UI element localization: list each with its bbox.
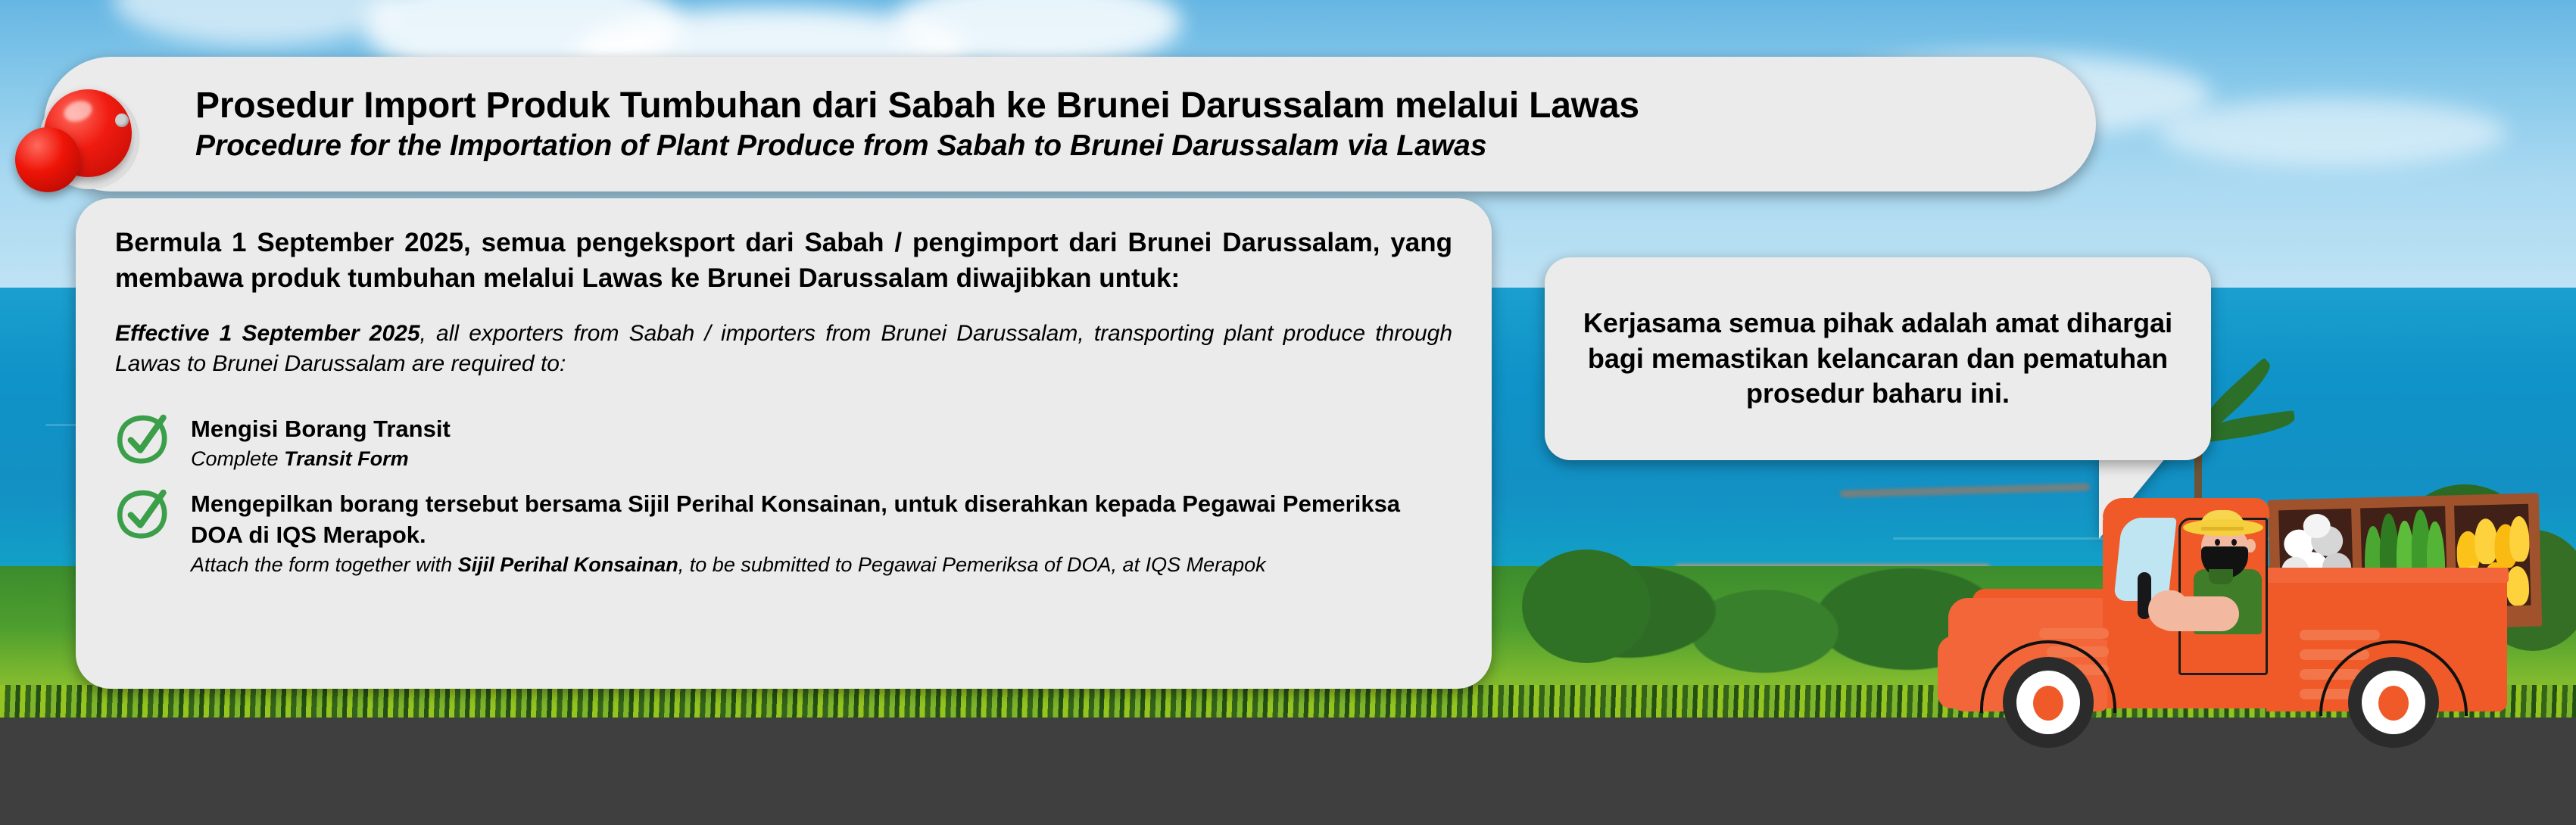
truck-vent-line — [2300, 630, 2380, 640]
title-banner: Prosedur Import Produk Tumbuhan dari Sab… — [44, 57, 2096, 191]
list-item: Mengisi Borang Transit Complete Transit … — [115, 414, 1452, 472]
speech-bubble-text: Kerjasama semua pihak adalah amat diharg… — [1570, 306, 2185, 412]
requirement-malay: Mengepilkan borang tersebut bersama Siji… — [191, 489, 1452, 550]
requirement-english-lead: Complete — [191, 447, 284, 470]
truck-cab-roof — [2103, 498, 2269, 518]
list-item: Mengepilkan borang tersebut bersama Siji… — [115, 489, 1452, 578]
truck-bed-lip — [2266, 568, 2509, 583]
intro-paragraph-english: Effective 1 September 2025, all exporter… — [115, 319, 1452, 379]
farmer-collar — [2209, 569, 2233, 584]
effective-date-malay: Bermula 1 September 2025, — [115, 228, 471, 257]
page-title-english: Procedure for the Importation of Plant P… — [195, 129, 2096, 163]
farmer-hat-band — [2201, 527, 2244, 531]
pin-nub — [115, 114, 129, 127]
requirement-malay: Mengisi Borang Transit — [191, 414, 1452, 444]
orange-pickup-truck-illustration — [1927, 454, 2576, 780]
farmer-eye — [2231, 539, 2237, 546]
requirement-english-emphasis: Sijil Perihal Konsainan — [458, 553, 678, 576]
truck-vent-line — [2039, 628, 2109, 639]
truck-rear-wheel — [2348, 657, 2439, 748]
effective-date-english: Effective 1 September 2025 — [115, 321, 420, 346]
requirement-english-emphasis: Transit Form — [284, 447, 409, 470]
cloud-shape — [2158, 98, 2506, 167]
truck-front-bumper — [1938, 636, 1983, 708]
push-pin-icon-secondary — [15, 127, 80, 192]
requirements-panel: Bermula 1 September 2025, semua pengeksp… — [76, 198, 1492, 689]
requirement-english: Attach the form together with Sijil Peri… — [191, 552, 1452, 578]
green-check-circle-icon — [115, 411, 171, 467]
page-title-malay: Prosedur Import Produk Tumbuhan dari Sab… — [195, 86, 2096, 126]
intro-paragraph-malay: Bermula 1 September 2025, semua pengeksp… — [115, 226, 1452, 296]
speech-bubble: Kerjasama semua pihak adalah amat diharg… — [1545, 257, 2211, 460]
tree-blob — [1522, 549, 1651, 663]
requirements-list: Mengisi Borang Transit Complete Transit … — [115, 414, 1452, 578]
requirement-english-tail: , to be submitted to Pegawai Pemeriksa o… — [678, 553, 1266, 576]
truck-front-wheel — [2003, 657, 2094, 748]
list-item-text: Mengepilkan borang tersebut bersama Siji… — [191, 489, 1452, 578]
wheel-hub — [2378, 686, 2409, 721]
farmer-hand — [2148, 590, 2188, 630]
requirement-english-lead: Attach the form together with — [191, 553, 458, 576]
list-item-text: Mengisi Borang Transit Complete Transit … — [191, 414, 1452, 472]
green-check-circle-icon — [115, 486, 171, 542]
infographic-poster: Prosedur Import Produk Tumbuhan dari Sab… — [0, 0, 2576, 825]
farmer-eye — [2215, 539, 2220, 546]
wheel-hub — [2033, 686, 2063, 721]
requirement-english: Complete Transit Form — [191, 446, 1452, 472]
